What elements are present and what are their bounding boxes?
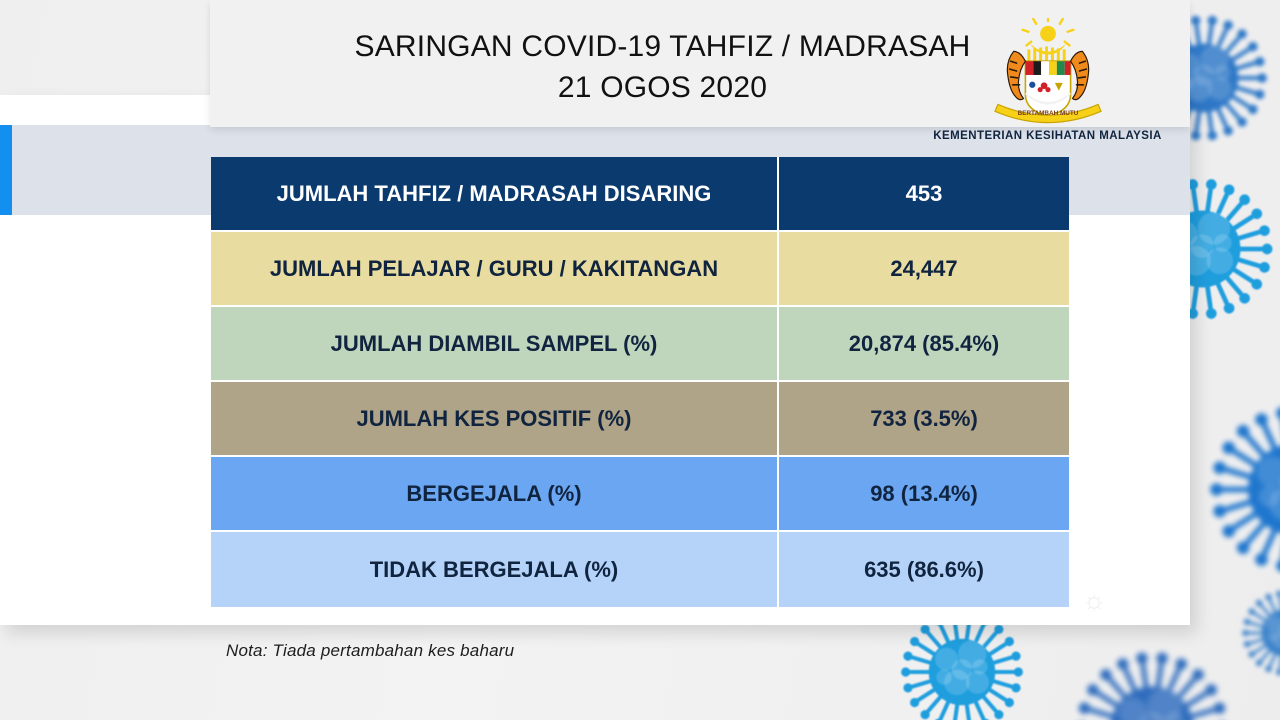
virus-bottom-right [1072, 648, 1232, 720]
table-row: JUMLAH PELAJAR / GURU / KAKITANGAN24,447 [211, 232, 1069, 307]
row-value: 24,447 [779, 232, 1069, 307]
row-value: 98 (13.4%) [779, 457, 1069, 532]
row-value: 20,874 (85.4%) [779, 307, 1069, 382]
row-label: JUMLAH PELAJAR / GURU / KAKITANGAN [211, 232, 779, 307]
table-row: JUMLAH TAHFIZ / MADRASAH DISARING453 [211, 157, 1069, 232]
ministry-label: KEMENTERIAN KESIHATAN MALAYSIA [905, 130, 1190, 142]
malaysia-coat-of-arms-icon: BERTAMBAH MUTU [983, 18, 1113, 128]
virus-far-right [1240, 588, 1280, 678]
row-value: 733 (3.5%) [779, 382, 1069, 457]
row-label: JUMLAH DIAMBIL SAMPEL (%) [211, 307, 779, 382]
accent-bar [0, 125, 12, 215]
row-label: TIDAK BERGEJALA (%) [211, 532, 779, 607]
virus-watermark-icon [1084, 593, 1104, 613]
virus-right-mid [1206, 402, 1280, 577]
statistics-table: JUMLAH TAHFIZ / MADRASAH DISARING453JUML… [211, 157, 1069, 607]
table-row: BERGEJALA (%)98 (13.4%) [211, 457, 1069, 532]
row-label: BERGEJALA (%) [211, 457, 779, 532]
row-value: 453 [779, 157, 1069, 232]
table-row: TIDAK BERGEJALA (%)635 (86.6%) [211, 532, 1069, 607]
row-value: 635 (86.6%) [779, 532, 1069, 607]
ministry-logo: BERTAMBAH MUTU KEMENTERIAN KESIHATAN MAL… [905, 18, 1190, 166]
row-label: JUMLAH TAHFIZ / MADRASAH DISARING [211, 157, 779, 232]
table-row: JUMLAH DIAMBIL SAMPEL (%)20,874 (85.4%) [211, 307, 1069, 382]
svg-text:BERTAMBAH MUTU: BERTAMBAH MUTU [1017, 110, 1078, 117]
table-row: JUMLAH KES POSITIF (%)733 (3.5%) [211, 382, 1069, 457]
row-label: JUMLAH KES POSITIF (%) [211, 382, 779, 457]
footnote: Nota: Tiada pertambahan kes baharu [226, 641, 514, 661]
